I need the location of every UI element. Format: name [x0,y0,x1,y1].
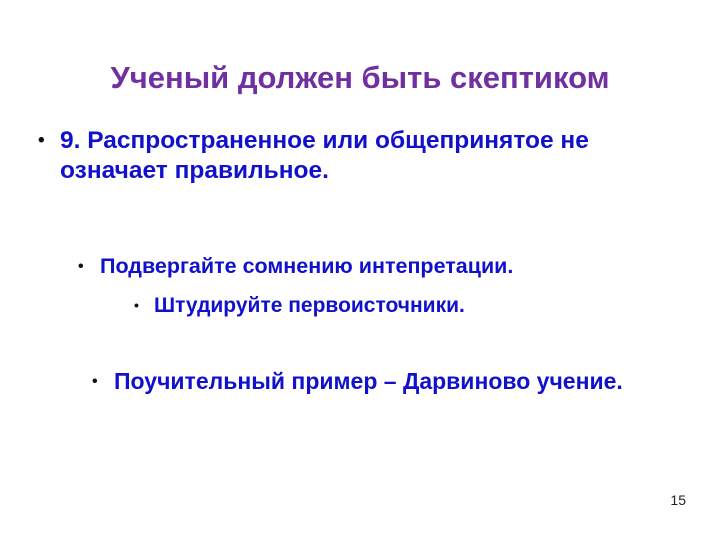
list-item-label: Подвергайте сомнению интепретации. [100,254,513,280]
bullet-dot-icon: • [78,254,100,275]
list-item[interactable]: • Штудируйте первоисточники. [0,293,720,318]
page-number: 15 [670,493,686,507]
list-item[interactable]: • 9. Распространенное или общепринятое н… [0,126,720,186]
list-item-label: Штудируйте первоисточники. [154,293,465,318]
list-item-label: 9. Распространенное или общепринятое не … [60,126,660,186]
bullet-dot-icon: • [134,293,154,312]
bullet-list: • 9. Распространенное или общепринятое н… [0,126,720,395]
list-item[interactable]: • Подвергайте сомнению интепретации. [0,254,720,280]
list-item[interactable]: • Поучительный пример – Дарвиново учение… [0,368,720,396]
bullet-dot-icon: • [92,368,114,390]
bullet-dot-icon: • [38,126,60,150]
page-title: Ученый должен быть скептиком [0,61,720,96]
list-item-label: Поучительный пример – Дарвиново учение. [114,368,623,396]
slide-canvas: Ученый должен быть скептиком • 9. Распро… [0,0,720,540]
